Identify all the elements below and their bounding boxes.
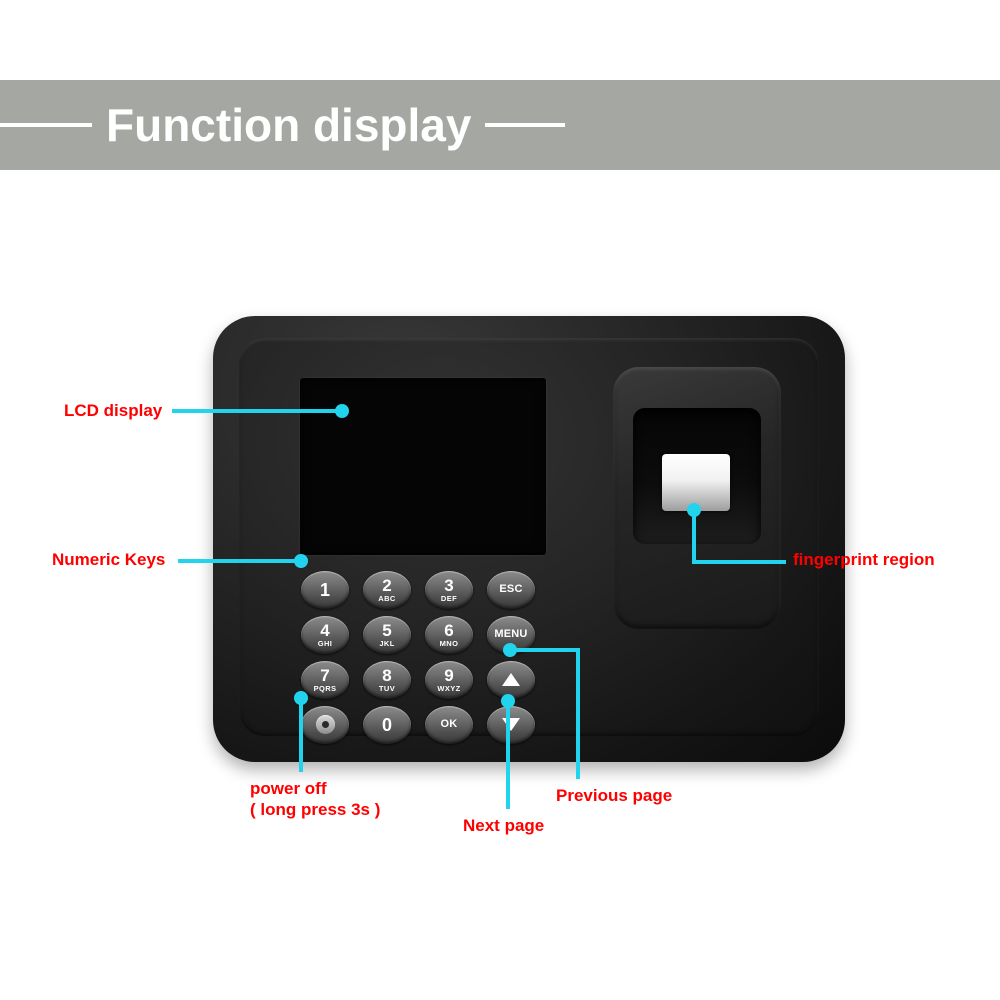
key-cell: 2ABC [356,567,418,612]
callout-label-fingerprint-region: fingerprint region [793,549,935,570]
arrow-up-icon [502,673,520,686]
key-power[interactable] [301,706,349,744]
key-word-label: MENU [494,629,527,640]
fingerprint-cavity [633,408,761,544]
header-banner: Function display [0,80,1000,170]
key-digit-label: 2 [382,577,391,594]
key-arrow-up[interactable] [487,661,535,699]
callout-label-numeric-keys: Numeric Keys [52,549,165,570]
key-1[interactable]: 1 [301,571,349,609]
key-digit-label: 1 [320,581,330,599]
header-rule-left [0,123,92,127]
key-cell [294,702,356,747]
key-digit-label: 0 [382,716,392,734]
key-digit-label: 9 [444,667,453,684]
power-icon [316,715,335,734]
key-letters-label: DEF [441,595,457,603]
key-cell: 8TUV [356,657,418,702]
key-digit-label: 5 [382,622,391,639]
callout-label-previous-page: Previous page [556,785,672,806]
key-cell: 9WXYZ [418,657,480,702]
key-ok[interactable]: OK [425,706,473,744]
key-letters-label: JKL [379,640,394,648]
keypad: 12ABC3DEFESC4GHI5JKL6MNOMENU7PQRS8TUV9WX… [294,567,544,747]
key-cell [480,702,542,747]
key-7[interactable]: 7PQRS [301,661,349,699]
key-letters-label: TUV [379,685,395,693]
header-rule-right [485,123,565,127]
key-letters-label: WXYZ [437,685,460,693]
key-digit-label: 7 [320,667,329,684]
key-3[interactable]: 3DEF [425,571,473,609]
lcd-display [300,378,546,555]
key-menu[interactable]: MENU [487,616,535,654]
key-digit-label: 6 [444,622,453,639]
key-cell: 0 [356,702,418,747]
function-display-page: Function display 12ABC3DEFESC4GHI5JKL6MN… [0,0,1000,1000]
key-8[interactable]: 8TUV [363,661,411,699]
key-cell: 4GHI [294,612,356,657]
key-cell: ESC [480,567,542,612]
device-body: 12ABC3DEFESC4GHI5JKL6MNOMENU7PQRS8TUV9WX… [213,316,845,762]
key-9[interactable]: 9WXYZ [425,661,473,699]
key-digit-label: 3 [444,577,453,594]
page-title: Function display [106,102,471,148]
key-letters-label: ABC [378,595,395,603]
key-cell [480,657,542,702]
fingerprint-sensor[interactable] [662,454,730,511]
key-esc[interactable]: ESC [487,571,535,609]
key-letters-label: GHI [318,640,333,648]
key-cell: 1 [294,567,356,612]
key-2[interactable]: 2ABC [363,571,411,609]
key-4[interactable]: 4GHI [301,616,349,654]
device-front-panel: 12ABC3DEFESC4GHI5JKL6MNOMENU7PQRS8TUV9WX… [239,338,819,736]
callout-label-power-off-line1: power off [250,778,380,799]
key-cell: 5JKL [356,612,418,657]
key-word-label: OK [441,719,458,730]
key-digit-label: 8 [382,667,391,684]
key-6[interactable]: 6MNO [425,616,473,654]
key-arrow-down[interactable] [487,706,535,744]
key-cell: 3DEF [418,567,480,612]
callout-label-next-page: Next page [463,815,544,836]
key-letters-label: PQRS [314,685,337,693]
key-cell: MENU [480,612,542,657]
key-cell: 6MNO [418,612,480,657]
key-letters-label: MNO [440,640,459,648]
fingerprint-module [613,367,781,629]
key-word-label: ESC [499,584,522,595]
callout-label-lcd-display: LCD display [64,400,162,421]
key-cell: 7PQRS [294,657,356,702]
key-digit-label: 4 [320,622,329,639]
key-5[interactable]: 5JKL [363,616,411,654]
arrow-down-icon [502,718,520,731]
callout-label-power-off-line2: ( long press 3s ) [250,799,380,820]
callout-label-power-off: power off ( long press 3s ) [250,778,380,821]
key-cell: OK [418,702,480,747]
key-0[interactable]: 0 [363,706,411,744]
